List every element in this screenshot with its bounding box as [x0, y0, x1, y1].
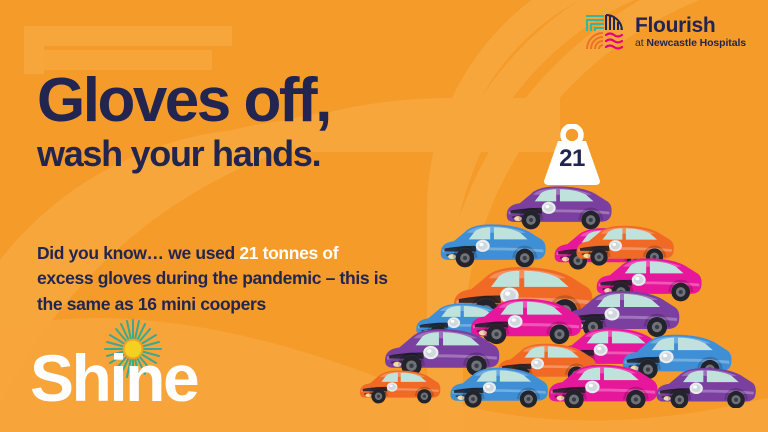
- flourish-logo-text: Flourish at Newcastle Hospitals: [635, 15, 746, 49]
- car-blue: [441, 224, 546, 267]
- weight-value: 21: [538, 145, 606, 173]
- flourish-logo[interactable]: Flourish at Newcastle Hospitals: [584, 11, 746, 53]
- shine-logo[interactable]: Shine: [30, 318, 210, 414]
- car-purple: [657, 368, 756, 408]
- body-copy: Did you know… we used 21 tonnes of exces…: [37, 241, 397, 319]
- car-purple: [507, 186, 612, 229]
- body-copy-part2: excess gloves during the pandemic – this…: [37, 268, 388, 314]
- flourish-name: Flourish: [635, 15, 746, 36]
- shine-wordmark: Shine: [30, 345, 197, 411]
- car-pile-group: [360, 186, 756, 408]
- flourish-subtitle: at Newcastle Hospitals: [635, 38, 746, 49]
- headline-line-1: Gloves off,: [37, 72, 330, 131]
- poster-canvas: Flourish at Newcastle Hospitals Gloves o…: [0, 0, 768, 432]
- body-copy-highlight: 21 tonnes of: [239, 243, 338, 263]
- flourish-subtitle-prefix: at: [635, 37, 646, 49]
- flourish-logo-mark: [584, 11, 626, 53]
- body-copy-part1: Did you know… we used: [37, 243, 239, 263]
- car-pile-illustration: [355, 168, 768, 408]
- headline-line-2: wash your hands.: [37, 135, 330, 173]
- flourish-subtitle-org: Newcastle Hospitals: [646, 37, 746, 49]
- page-title: Gloves off, wash your hands.: [37, 72, 330, 173]
- car-orange: [360, 370, 441, 403]
